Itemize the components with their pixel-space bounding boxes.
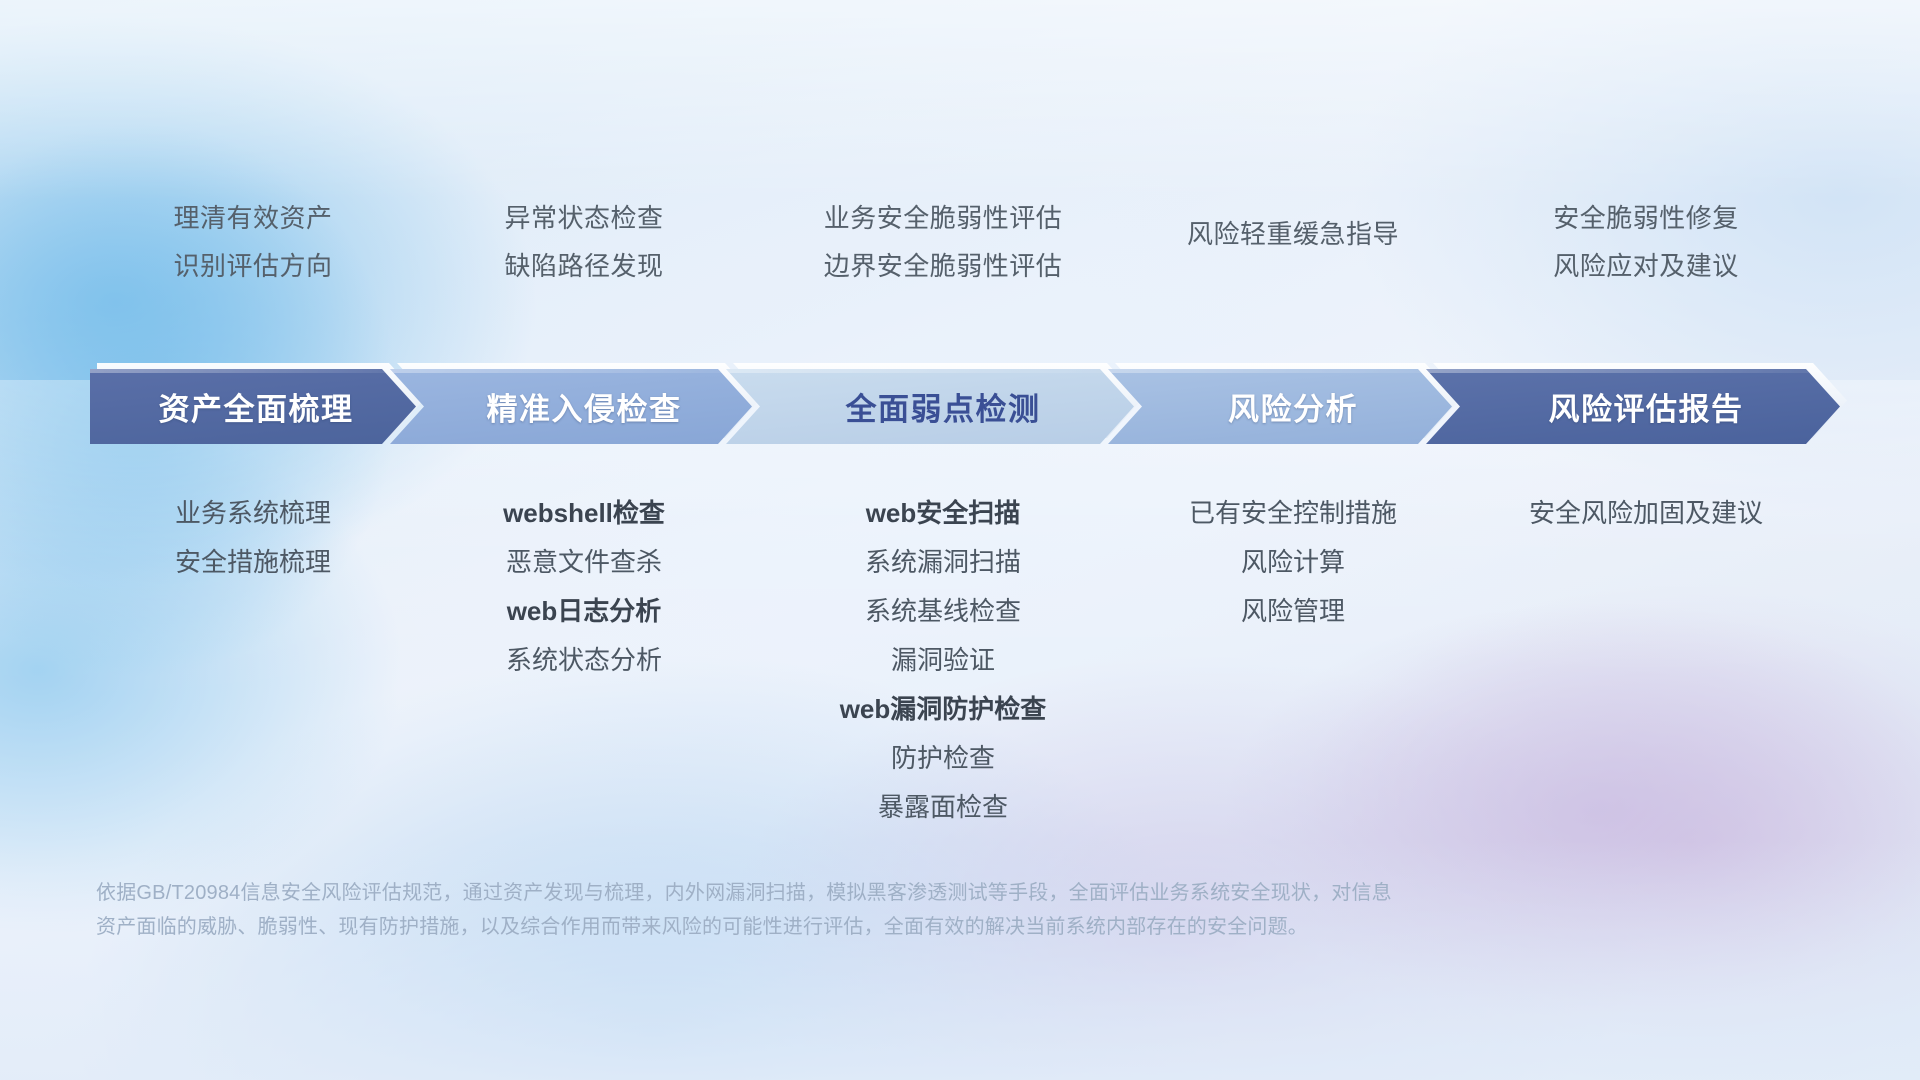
stage-bottom-label: web日志分析	[416, 598, 752, 624]
stage-arrow-band: 资产全面梳理精准入侵检查全面弱点检测风险分析风险评估报告	[90, 369, 1840, 444]
stage-bottom-label: 安全措施梳理	[90, 549, 416, 575]
stage-top-label: 缺陷路径发现	[416, 253, 752, 279]
stage-top-label: 风险轻重缓急指导	[1134, 221, 1452, 247]
stage-bottom-label: 漏洞验证	[752, 647, 1134, 673]
footer-description: 依据GB/T20984信息安全风险评估规范，通过资产发现与梳理，内外网漏洞扫描，…	[96, 876, 1736, 944]
stage-arrow-title: 风险评估报告	[1523, 384, 1744, 429]
footer-line-1: 依据GB/T20984信息安全风险评估规范，通过资产发现与梳理，内外网漏洞扫描，…	[96, 876, 1736, 910]
stage-arrow-weakness-detection[interactable]: 全面弱点检测	[726, 369, 1134, 444]
stage-top-labels-weakness-detection: 业务安全脆弱性评估边界安全脆弱性评估	[752, 205, 1134, 279]
stage-top-label: 边界安全脆弱性评估	[752, 253, 1134, 279]
stage-bottom-label: 防护检查	[752, 745, 1134, 771]
stage-arrow-title: 全面弱点检测	[820, 384, 1041, 429]
stage-top-labels-row: 理清有效资产识别评估方向异常状态检查缺陷路径发现业务安全脆弱性评估边界安全脆弱性…	[90, 205, 1830, 279]
stage-bottom-labels-row: 业务系统梳理安全措施梳理webshell检查恶意文件查杀web日志分析系统状态分…	[90, 500, 1840, 820]
stage-bottom-label: 已有安全控制措施	[1134, 500, 1452, 526]
stage-top-label: 安全脆弱性修复	[1452, 205, 1840, 231]
stage-top-label: 风险应对及建议	[1452, 253, 1840, 279]
stage-top-labels-assessment-report: 安全脆弱性修复风险应对及建议	[1452, 205, 1840, 279]
stage-top-labels-asset-inventory: 理清有效资产识别评估方向	[90, 205, 416, 279]
stage-bottom-label: 安全风险加固及建议	[1452, 500, 1840, 526]
stage-bottom-label: 系统漏洞扫描	[752, 549, 1134, 575]
stage-bottom-labels-weakness-detection: web安全扫描系统漏洞扫描系统基线检查漏洞验证web漏洞防护检查防护检查暴露面检…	[752, 500, 1134, 820]
stage-bottom-labels-risk-analysis: 已有安全控制措施风险计算风险管理	[1134, 500, 1452, 820]
stage-bottom-label: web安全扫描	[752, 500, 1134, 526]
stage-arrow-assessment-report[interactable]: 风险评估报告	[1426, 369, 1840, 444]
stage-bottom-label: 业务系统梳理	[90, 500, 416, 526]
stage-arrow-title: 精准入侵检查	[461, 384, 682, 429]
stage-bottom-label: 风险管理	[1134, 598, 1452, 624]
stage-bottom-labels-assessment-report: 安全风险加固及建议	[1452, 500, 1840, 820]
stage-bottom-label: 系统基线检查	[752, 598, 1134, 624]
stage-arrow-asset-inventory[interactable]: 资产全面梳理	[90, 369, 416, 444]
stage-arrow-risk-analysis[interactable]: 风险分析	[1108, 369, 1452, 444]
stage-arrow-title: 资产全面梳理	[153, 384, 354, 429]
stage-arrow-intrusion-check[interactable]: 精准入侵检查	[390, 369, 752, 444]
stage-top-label: 识别评估方向	[90, 253, 416, 279]
footer-line-2: 资产面临的威胁、脆弱性、现有防护措施，以及综合作用而带来风险的可能性进行评估，全…	[96, 910, 1736, 944]
stage-top-labels-intrusion-check: 异常状态检查缺陷路径发现	[416, 205, 752, 279]
stage-top-label: 业务安全脆弱性评估	[752, 205, 1134, 231]
stage-top-labels-risk-analysis: 风险轻重缓急指导	[1134, 205, 1452, 279]
stage-bottom-label: 恶意文件查杀	[416, 549, 752, 575]
process-diagram: 理清有效资产识别评估方向异常状态检查缺陷路径发现业务安全脆弱性评估边界安全脆弱性…	[0, 0, 1920, 1080]
stage-bottom-labels-intrusion-check: webshell检查恶意文件查杀web日志分析系统状态分析	[416, 500, 752, 820]
stage-bottom-label: web漏洞防护检查	[752, 696, 1134, 722]
stage-top-label: 异常状态检查	[416, 205, 752, 231]
stage-top-label: 理清有效资产	[90, 205, 416, 231]
stage-arrow-title: 风险分析	[1202, 384, 1358, 429]
stage-bottom-label: 系统状态分析	[416, 647, 752, 673]
stage-bottom-label: 暴露面检查	[752, 794, 1134, 820]
stage-bottom-label: 风险计算	[1134, 549, 1452, 575]
stage-bottom-labels-asset-inventory: 业务系统梳理安全措施梳理	[90, 500, 416, 820]
stage-bottom-label: webshell检查	[416, 500, 752, 526]
